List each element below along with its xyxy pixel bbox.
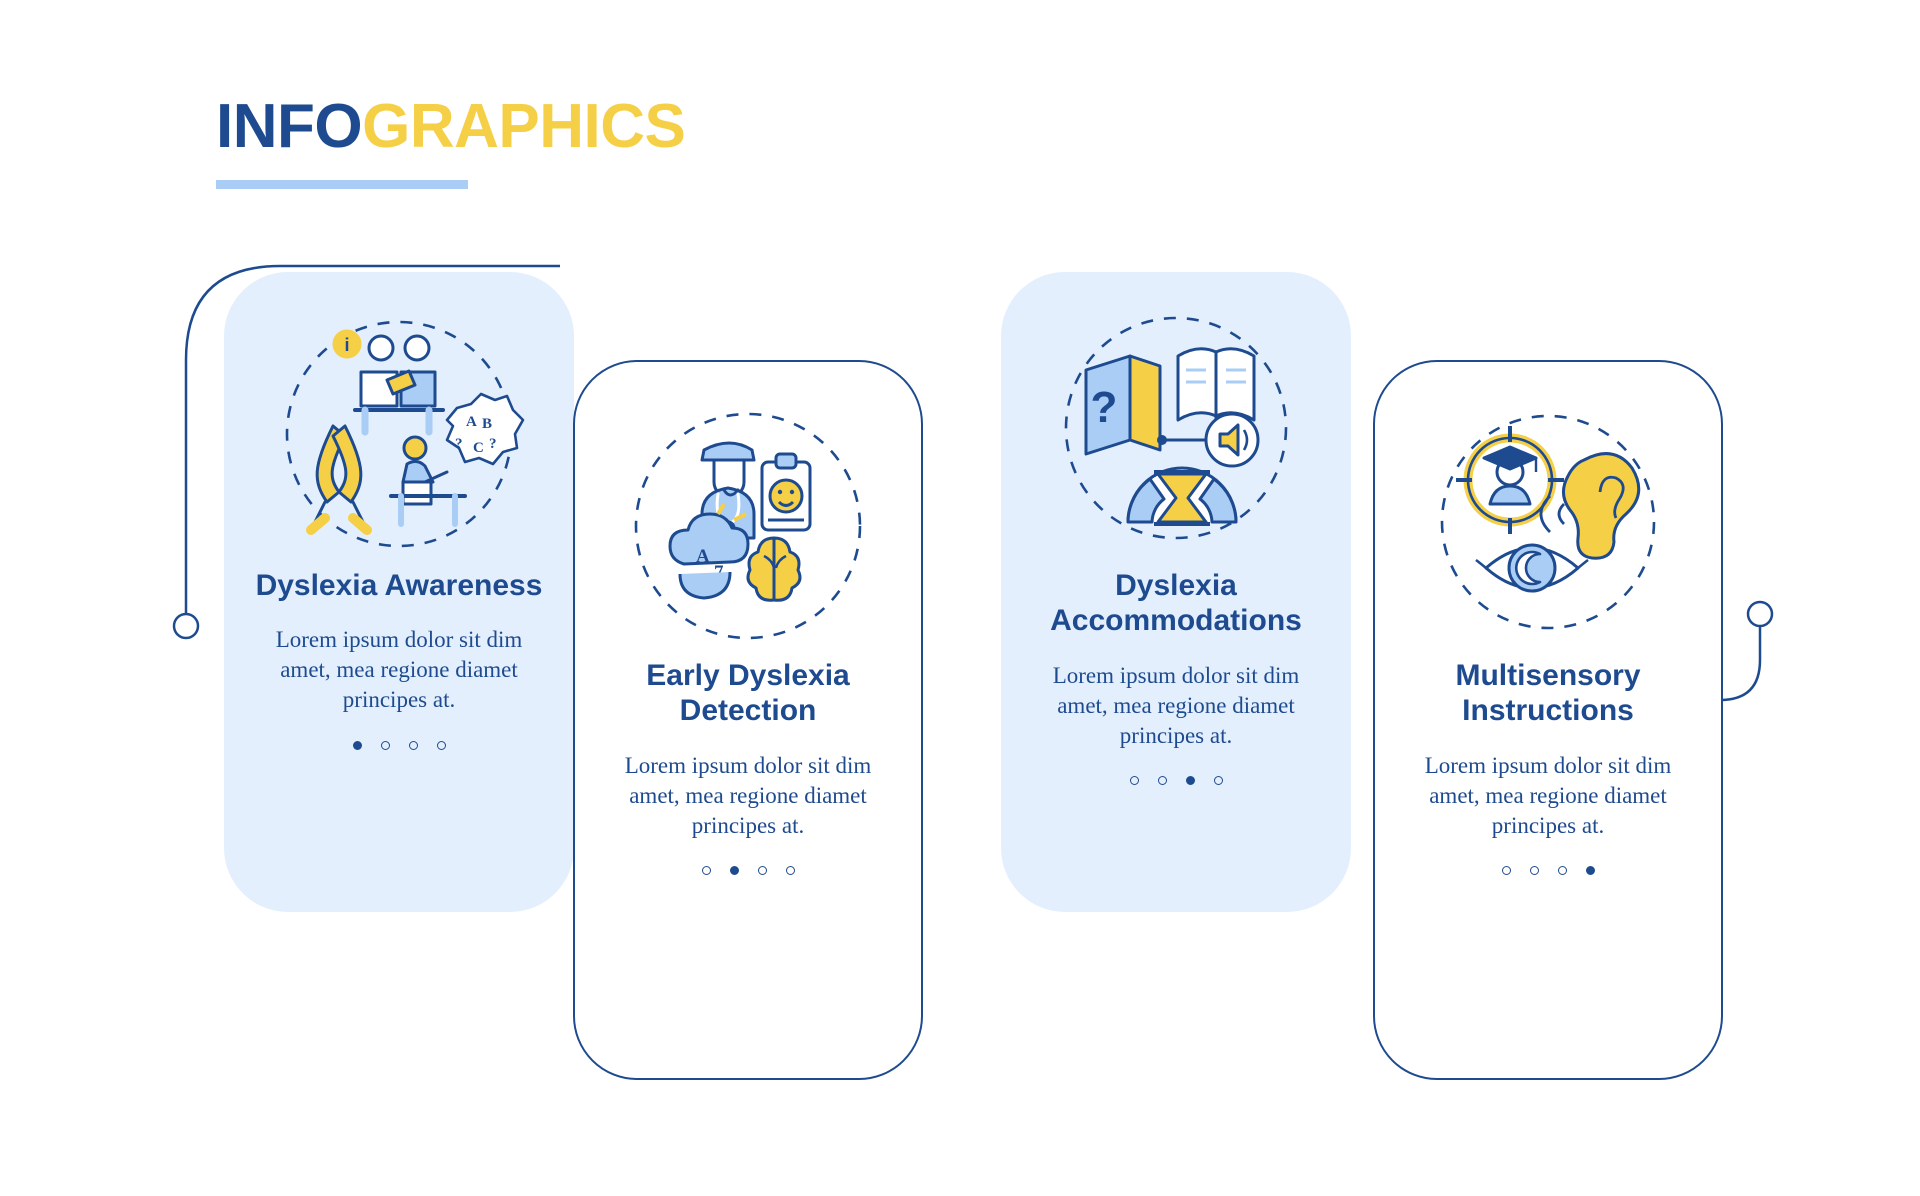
step-dots[interactable] bbox=[1502, 866, 1595, 875]
step-dot-1[interactable] bbox=[702, 866, 711, 875]
svg-text:A: A bbox=[466, 414, 477, 430]
card-description: Lorem ipsum dolor sit dim amet, mea regi… bbox=[575, 751, 921, 841]
step-dot-2[interactable] bbox=[381, 741, 390, 750]
step-dots[interactable] bbox=[353, 741, 446, 750]
step-dot-3[interactable] bbox=[758, 866, 767, 875]
early-dyslexia-detection-icon: A 7 bbox=[618, 396, 878, 656]
svg-text:?: ? bbox=[455, 436, 463, 452]
svg-text:?: ? bbox=[489, 436, 497, 452]
card-multisensory-instructions[interactable]: Multisensory Instructions Lorem ipsum do… bbox=[1373, 360, 1723, 1080]
step-dot-1[interactable] bbox=[1130, 776, 1139, 785]
card-title: Dyslexia Awareness bbox=[230, 568, 569, 603]
page-title: INFOGRAPHICS bbox=[216, 96, 685, 189]
svg-text:C: C bbox=[473, 440, 484, 456]
card-dyslexia-accommodations[interactable]: ? Dyslexia Accommodations Lorem ipsum do… bbox=[1001, 272, 1351, 912]
step-dot-2[interactable] bbox=[1530, 866, 1539, 875]
dyslexia-awareness-icon: i A B ? bbox=[269, 306, 529, 566]
card-early-dyslexia-detection[interactable]: A 7 Early Dyslexia Detection Lorem ipsum… bbox=[573, 360, 923, 1080]
step-dot-2[interactable] bbox=[1158, 776, 1167, 785]
title-underline bbox=[216, 180, 468, 189]
step-dot-3[interactable] bbox=[1186, 776, 1195, 785]
card-title: Multisensory Instructions bbox=[1375, 658, 1721, 729]
step-dot-3[interactable] bbox=[409, 741, 418, 750]
card-title: Early Dyslexia Detection bbox=[575, 658, 921, 729]
svg-text:A: A bbox=[696, 546, 710, 567]
step-dots[interactable] bbox=[702, 866, 795, 875]
card-dyslexia-awareness[interactable]: i A B ? bbox=[224, 272, 574, 912]
step-dot-2[interactable] bbox=[730, 866, 739, 875]
step-dot-4[interactable] bbox=[786, 866, 795, 875]
step-dot-4[interactable] bbox=[1586, 866, 1595, 875]
svg-text:B: B bbox=[482, 416, 492, 432]
svg-text:i: i bbox=[344, 335, 349, 355]
step-dots[interactable] bbox=[1130, 776, 1223, 785]
title-part-graphics: GRAPHICS bbox=[362, 92, 685, 161]
card-description: Lorem ipsum dolor sit dim amet, mea regi… bbox=[1375, 751, 1721, 841]
multisensory-instructions-icon bbox=[1418, 396, 1678, 656]
step-dot-1[interactable] bbox=[1502, 866, 1511, 875]
step-dot-4[interactable] bbox=[437, 741, 446, 750]
svg-text:?: ? bbox=[1091, 383, 1118, 432]
title-text: INFOGRAPHICS bbox=[216, 96, 685, 158]
title-part-info: INFO bbox=[216, 92, 362, 161]
dyslexia-accommodations-icon: ? bbox=[1046, 306, 1306, 566]
card-title: Dyslexia Accommodations bbox=[1001, 568, 1351, 639]
step-dot-3[interactable] bbox=[1558, 866, 1567, 875]
card-description: Lorem ipsum dolor sit dim amet, mea regi… bbox=[1001, 661, 1351, 751]
step-dot-1[interactable] bbox=[353, 741, 362, 750]
card-description: Lorem ipsum dolor sit dim amet, mea regi… bbox=[224, 625, 574, 715]
step-dot-4[interactable] bbox=[1214, 776, 1223, 785]
